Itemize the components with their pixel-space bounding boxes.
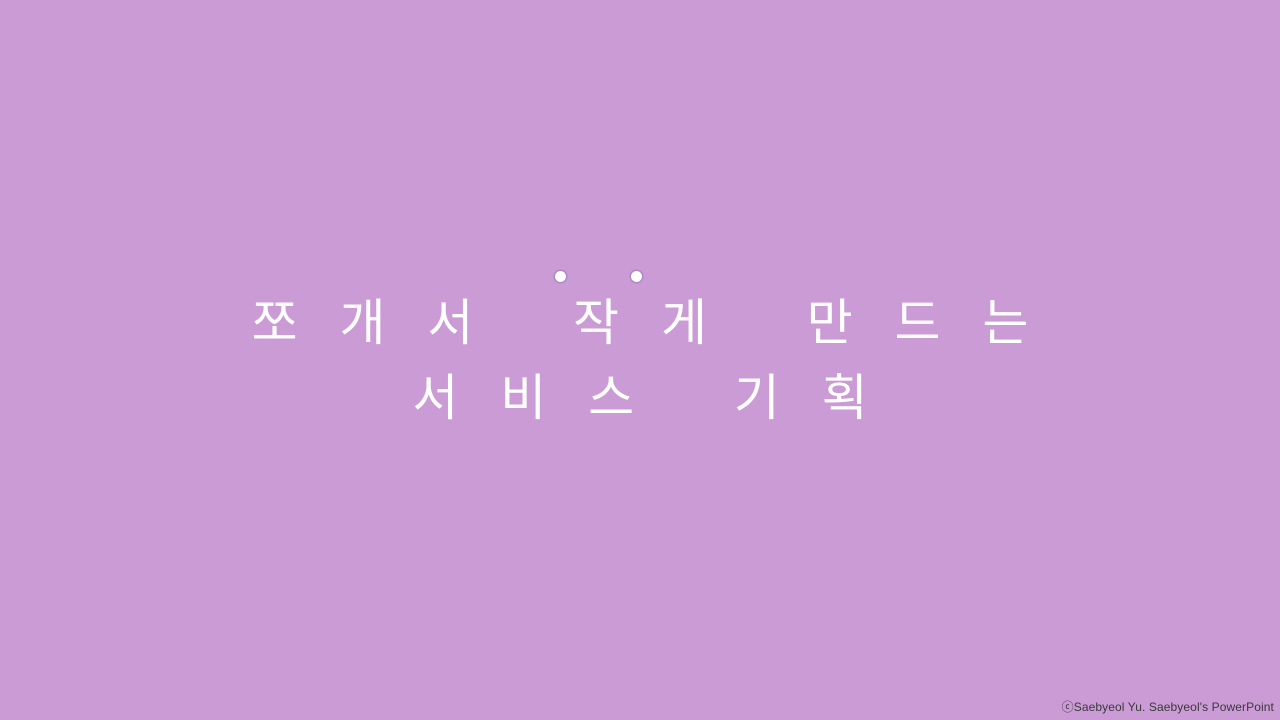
decorative-dot-left bbox=[555, 271, 566, 282]
copyright-notice: ⓒSaebyeol Yu. Saebyeol's PowerPoint bbox=[1062, 699, 1274, 715]
decorative-dot-right bbox=[631, 271, 642, 282]
slide-title: 쪼 개 서 작 게 만 드 는 서 비 스 기 획 bbox=[0, 286, 1280, 436]
slide-title-line-2: 서 비 스 기 획 bbox=[0, 361, 1280, 436]
presentation-slide: 쪼 개 서 작 게 만 드 는 서 비 스 기 획 ⓒSaebyeol Yu. … bbox=[0, 0, 1280, 720]
slide-title-line-1: 쪼 개 서 작 게 만 드 는 bbox=[0, 286, 1280, 361]
